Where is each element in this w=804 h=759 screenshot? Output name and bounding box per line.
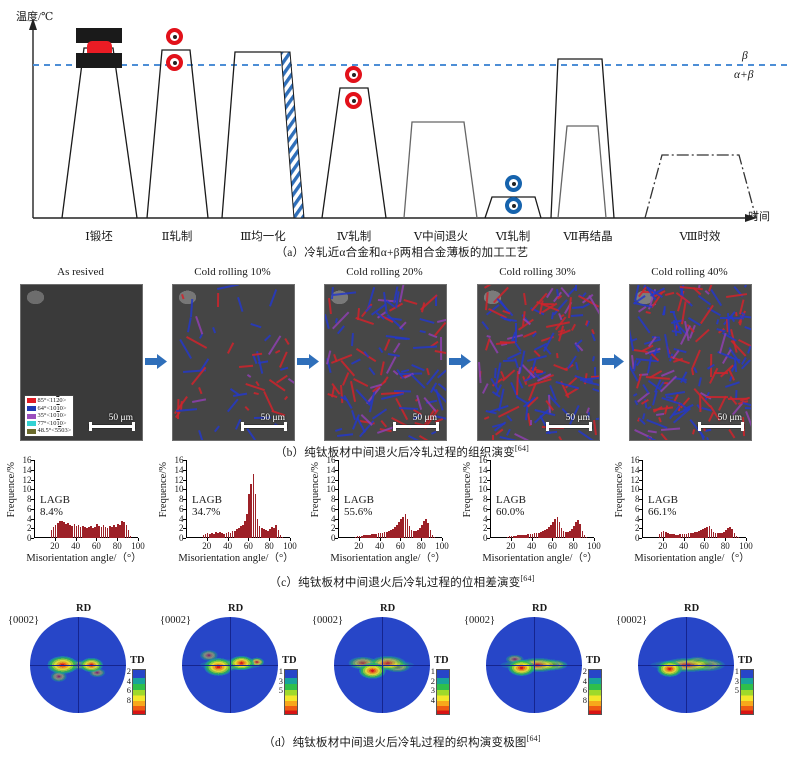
pole-rd-label: RD	[380, 603, 395, 614]
stage-5-profile	[404, 122, 477, 218]
pole-hkl-label: {0002}	[464, 615, 495, 626]
hist-y-tick-label: 6	[635, 504, 640, 514]
hist-bar	[130, 536, 132, 538]
hist-x-axis-title: Misorientation angle/（°）	[618, 550, 766, 565]
lagb-value: 55.6%	[344, 506, 374, 518]
hist-y-tick-label: 6	[179, 504, 184, 514]
hist-y-tick-label: 0	[483, 533, 488, 543]
hist-y-tick-label: 16	[175, 455, 184, 465]
hist-x-tick-label: 80	[265, 541, 274, 551]
panel-d-caption-ref: [64]	[527, 734, 541, 743]
hist-x-tick-label: 100	[739, 541, 753, 551]
colorbar-tick-label: 5	[274, 686, 283, 696]
hist-x-tick-label: 100	[131, 541, 145, 551]
ebsd-title-3: Cold rolling 30%	[499, 266, 575, 278]
pole-figure-2: {0002}RDTD1234	[312, 603, 462, 721]
lagb-value: 34.7%	[192, 506, 222, 518]
hist-bar	[738, 537, 740, 538]
hist-bar	[282, 537, 284, 538]
colorbar-tick-label: 8	[578, 696, 587, 706]
hist-y-tick-label: 16	[327, 455, 336, 465]
hist-y-tick-label: 12	[631, 475, 640, 485]
hist-y-tick-label: 4	[179, 514, 184, 524]
hist-y-tick-label: 8	[635, 494, 640, 504]
hist-x-tick-label: 40	[223, 541, 232, 551]
lagb-value: 8.4%	[40, 506, 70, 518]
hist-x-tick-label: 80	[417, 541, 426, 551]
flow-arrow-3	[602, 354, 624, 369]
hist-y-axis-title: Frequence/%	[310, 462, 321, 517]
panel-c-caption-text: （c）纯钛板材中间退火后冷轧过程的位相差演变	[269, 577, 520, 589]
hist-y-tick-label: 10	[631, 484, 640, 494]
hist-y-tick-label: 6	[331, 504, 336, 514]
hist-y-tick-label: 12	[175, 475, 184, 485]
hist-bar	[434, 537, 436, 538]
stage-3-profile	[222, 52, 281, 218]
ebsd-image-4: 50 μm	[629, 284, 752, 441]
hist-x-tick-label: 40	[527, 541, 536, 551]
hist-x-tick-label: 60	[700, 541, 709, 551]
scale-bar	[546, 425, 592, 428]
pole-colorbar	[740, 669, 754, 715]
legend-swatch	[27, 429, 36, 434]
misorientation-histogram-2: Frequence/%024681012141620406080100LAGB5…	[312, 458, 462, 568]
pole-hkl-label: {0002}	[160, 615, 191, 626]
hist-x-tick-label: 100	[435, 541, 449, 551]
hist-y-tick-label: 14	[631, 465, 640, 475]
pole-colorbar	[436, 669, 450, 715]
ebsd-image-2: 50 μm	[324, 284, 447, 441]
hist-y-tick-label: 0	[331, 533, 336, 543]
colorbar-tick-label: 5	[730, 686, 739, 696]
ebsd-title-4: Cold rolling 40%	[651, 266, 727, 278]
pole-rd-label: RD	[228, 603, 243, 614]
flow-arrow-0	[145, 354, 167, 369]
ebsd-title-0: As resived	[57, 266, 104, 278]
hist-y-tick-label: 10	[479, 484, 488, 494]
hist-x-tick-label: 100	[587, 541, 601, 551]
ebsd-image-0: 85°<1120>64°<1010>35°<1010>77°<1010>48.5…	[20, 284, 143, 441]
hist-y-axis-title: Frequence/%	[462, 462, 473, 517]
hist-y-tick-label: 6	[483, 504, 488, 514]
hist-x-tick-label: 20	[506, 541, 515, 551]
pole-rd-label: RD	[684, 603, 699, 614]
hist-y-tick-label: 12	[23, 475, 32, 485]
stage-label-2: Ⅱ轧制	[162, 228, 193, 244]
colorbar-tick-label: 8	[122, 696, 131, 706]
scale-bar	[89, 425, 135, 428]
hist-y-tick-label: 14	[175, 465, 184, 475]
hist-x-tick-label: 60	[548, 541, 557, 551]
pole-colorbar-labels: 2468	[578, 667, 587, 711]
scale-bar	[241, 425, 287, 428]
misorientation-histogram-3: Frequence/%024681012141620406080100LAGB6…	[464, 458, 614, 568]
pole-colorbar	[132, 669, 146, 715]
stage-label-4: Ⅳ轧制	[337, 228, 372, 244]
hist-y-tick-label: 16	[23, 455, 32, 465]
hist-y-tick-label: 2	[179, 523, 184, 533]
pole-rd-label: RD	[76, 603, 91, 614]
hist-y-axis-title: Frequence/%	[158, 462, 169, 517]
colorbar-tick-label: 4	[426, 696, 435, 706]
hist-y-tick-label: 0	[27, 533, 32, 543]
legend-swatch	[27, 406, 36, 411]
pole-colorbar	[588, 669, 602, 715]
hist-y-tick-label: 2	[635, 523, 640, 533]
hist-x-axis-title: Misorientation angle/（°）	[314, 550, 462, 565]
scale-bar	[393, 425, 439, 428]
hist-x-tick-label: 20	[658, 541, 667, 551]
hist-y-axis-title: Frequence/%	[6, 462, 17, 517]
ebsd-image-3: 50 μm	[477, 284, 600, 441]
hist-y-axis-title: Frequence/%	[614, 462, 625, 517]
phase-label-alpha-beta: α+β	[734, 69, 754, 81]
pole-projection-disc	[486, 617, 582, 713]
hist-y-tick-label: 4	[635, 514, 640, 524]
pole-projection-disc	[638, 617, 734, 713]
pole-figure-0: {0002}RDTD2468	[8, 603, 158, 721]
lagb-value: 60.0%	[496, 506, 526, 518]
flow-arrow-1	[297, 354, 319, 369]
misorientation-histogram-4: Frequence/%024681012141620406080100LAGB6…	[616, 458, 766, 568]
pole-colorbar-labels: 135	[730, 667, 739, 711]
pole-rd-label: RD	[532, 603, 547, 614]
misorientation-histogram-0: Frequence/%024681012141620406080100LAGB8…	[8, 458, 158, 568]
panel-d-pole-figures: {0002}RDTD2468{0002}RDTD135{0002}RDTD123…	[0, 595, 804, 759]
hist-x-tick-label: 20	[202, 541, 211, 551]
panel-a-caption: （a）冷轧近α合金和α+β两相合金薄板的加工工艺	[0, 244, 804, 260]
hist-x-axis-title: Misorientation angle/（°）	[466, 550, 614, 565]
hist-y-tick-label: 14	[479, 465, 488, 475]
pole-colorbar-labels: 2468	[122, 667, 131, 711]
pole-hkl-label: {0002}	[616, 615, 647, 626]
phase-label-beta: β	[742, 50, 748, 62]
legend-swatch	[27, 421, 36, 426]
legend-label: 48.5°<5503>	[38, 427, 72, 435]
pole-td-label: TD	[738, 655, 753, 666]
panel-c-caption-ref: [64]	[520, 574, 534, 583]
pole-td-label: TD	[586, 655, 601, 666]
lagb-annotation: LAGB8.4%	[40, 494, 70, 518]
lagb-annotation: LAGB66.1%	[648, 494, 678, 518]
hist-y-tick-label: 4	[483, 514, 488, 524]
hist-x-tick-label: 60	[244, 541, 253, 551]
panel-d-caption-text: （d）纯钛板材中间退火后冷轧过程的织构演变极图	[263, 737, 526, 749]
scale-bar-label: 50 μm	[261, 413, 285, 423]
stage-7-profile-inner	[558, 126, 606, 218]
stage-label-8: Ⅷ时效	[679, 228, 720, 244]
pole-td-label: TD	[282, 655, 297, 666]
lagb-annotation: LAGB34.7%	[192, 494, 222, 518]
ebsd-image-1: 50 μm	[172, 284, 295, 441]
axis-lines	[29, 18, 757, 222]
pole-hkl-label: {0002}	[8, 615, 39, 626]
hist-x-tick-label: 40	[679, 541, 688, 551]
lagb-value: 66.1%	[648, 506, 678, 518]
legend-label: 85°<1120>	[38, 397, 67, 405]
hist-x-tick-label: 100	[283, 541, 297, 551]
lagb-label: LAGB	[40, 494, 70, 506]
panel-b-microstructure: As resivedCold rolling 10%Cold rolling 2…	[0, 262, 804, 452]
hist-x-axis-title: Misorientation angle/（°）	[162, 550, 310, 565]
stage-label-7: Ⅶ再结晶	[563, 228, 612, 244]
hist-y-tick-label: 8	[179, 494, 184, 504]
panel-c-misorientation: Frequence/%024681012141620406080100LAGB8…	[0, 452, 804, 595]
hist-x-tick-label: 80	[113, 541, 122, 551]
hist-y-tick-label: 2	[483, 523, 488, 533]
hist-x-tick-label: 40	[71, 541, 80, 551]
legend-label: 35°<1010>	[38, 412, 67, 420]
stage-8-profile	[645, 155, 756, 218]
lagb-label: LAGB	[648, 494, 678, 506]
hist-y-tick-label: 16	[631, 455, 640, 465]
hist-y-tick-label: 2	[27, 523, 32, 533]
hist-y-tick-label: 4	[331, 514, 336, 524]
scale-bar-label: 50 μm	[413, 413, 437, 423]
panel-c-caption: （c）纯钛板材中间退火后冷轧过程的位相差演变[64]	[0, 574, 804, 590]
hist-y-tick-label: 8	[27, 494, 32, 504]
pole-figure-1: {0002}RDTD135	[160, 603, 310, 721]
scale-bar-label: 50 μm	[109, 413, 133, 423]
stage-label-6: Ⅵ轧制	[496, 228, 531, 244]
hist-y-tick-label: 12	[479, 475, 488, 485]
hist-y-tick-label: 8	[331, 494, 336, 504]
hist-x-axis-title: Misorientation angle/（°）	[10, 550, 158, 565]
lagb-label: LAGB	[496, 494, 526, 506]
hist-x-tick-label: 20	[50, 541, 59, 551]
ebsd-legend-row-4: 48.5°<5503>	[27, 427, 71, 435]
stage-label-3: Ⅲ均一化	[240, 228, 286, 244]
hist-y-tick-label: 4	[27, 514, 32, 524]
scale-bar	[698, 425, 744, 428]
pole-projection-disc	[334, 617, 430, 713]
panel-a-thermal-process: 温度/℃ 时间	[0, 0, 804, 262]
pole-colorbar	[284, 669, 298, 715]
pole-projection-disc	[30, 617, 126, 713]
figure-root: 温度/℃ 时间	[0, 0, 804, 759]
hist-y-tick-label: 2	[331, 523, 336, 533]
hist-y-tick-label: 8	[483, 494, 488, 504]
scale-bar-label: 50 μm	[718, 413, 742, 423]
hist-y-tick-label: 0	[179, 533, 184, 543]
legend-swatch	[27, 398, 36, 403]
hist-y-tick-label: 10	[23, 484, 32, 494]
stage-label-5: Ⅴ中间退火	[414, 228, 468, 244]
hist-y-tick-label: 14	[23, 465, 32, 475]
pole-td-label: TD	[130, 655, 145, 666]
stage-label-1: Ⅰ锻坯	[85, 228, 113, 244]
misorientation-histogram-1: Frequence/%024681012141620406080100LAGB3…	[160, 458, 310, 568]
stage-2-profile	[147, 50, 208, 218]
pole-td-label: TD	[434, 655, 449, 666]
pole-figure-4: {0002}RDTD135	[616, 603, 766, 721]
hist-y-tick-label: 10	[327, 484, 336, 494]
pole-hkl-label: {0002}	[312, 615, 343, 626]
hist-x-tick-label: 80	[721, 541, 730, 551]
hist-y-tick-label: 16	[479, 455, 488, 465]
ebsd-legend: 85°<1120>64°<1010>35°<1010>77°<1010>48.5…	[24, 395, 74, 437]
lagb-annotation: LAGB55.6%	[344, 494, 374, 518]
pole-colorbar-labels: 135	[274, 667, 283, 711]
scale-bar-label: 50 μm	[566, 413, 590, 423]
pole-figure-3: {0002}RDTD2468	[464, 603, 614, 721]
ebsd-title-2: Cold rolling 20%	[346, 266, 422, 278]
hist-x-tick-label: 20	[354, 541, 363, 551]
lagb-label: LAGB	[192, 494, 222, 506]
hist-x-tick-label: 60	[92, 541, 101, 551]
panel-d-caption: （d）纯钛板材中间退火后冷轧过程的织构演变极图[64]	[0, 734, 804, 750]
hist-x-tick-label: 60	[396, 541, 405, 551]
legend-swatch	[27, 414, 36, 419]
ebsd-legend-row-2: 35°<1010>	[27, 412, 71, 420]
hist-x-tick-label: 80	[569, 541, 578, 551]
hist-bar	[586, 537, 588, 538]
stage-1-profile	[62, 48, 137, 218]
flow-arrow-2	[449, 354, 471, 369]
hist-y-tick-label: 14	[327, 465, 336, 475]
lagb-label: LAGB	[344, 494, 374, 506]
ebsd-title-1: Cold rolling 10%	[194, 266, 270, 278]
pole-projection-disc	[182, 617, 278, 713]
hist-y-tick-label: 10	[175, 484, 184, 494]
hist-y-tick-label: 6	[27, 504, 32, 514]
hist-y-tick-label: 12	[327, 475, 336, 485]
hist-y-tick-label: 0	[635, 533, 640, 543]
stage-3-quench-band	[281, 52, 304, 218]
pole-colorbar-labels: 1234	[426, 667, 435, 711]
lagb-annotation: LAGB60.0%	[496, 494, 526, 518]
hist-x-tick-label: 40	[375, 541, 384, 551]
ebsd-legend-row-0: 85°<1120>	[27, 397, 71, 405]
